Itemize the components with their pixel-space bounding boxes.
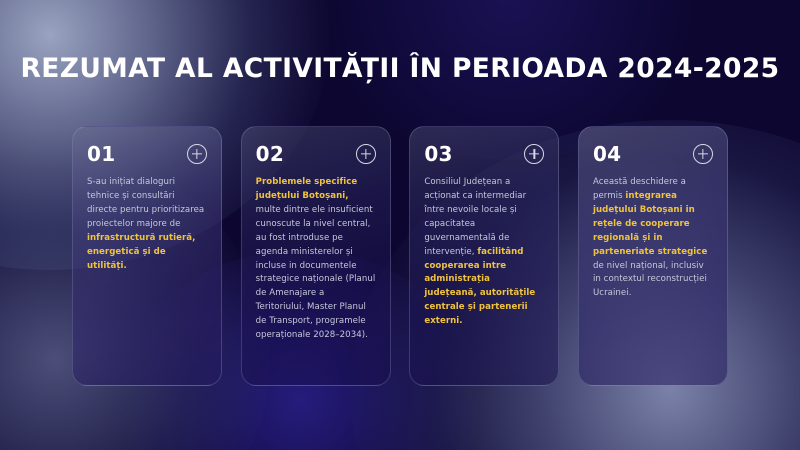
- plus-circle-icon[interactable]: [187, 144, 207, 164]
- card-04[interactable]: 04 Această deschidere a permis integrare…: [578, 126, 728, 386]
- card-01[interactable]: 01 S-au inițiat dialoguri tehnice și con…: [72, 126, 222, 386]
- card-header: 03: [424, 141, 544, 167]
- cards-row: 01 S-au inițiat dialoguri tehnice și con…: [72, 126, 728, 386]
- card-number: 03: [424, 144, 452, 164]
- card-body-text: Problemele specifice județului Botoșani,…: [256, 176, 376, 343]
- page-title: REZUMAT AL ACTIVITĂȚII ÎN PERIOADA 2024-…: [0, 54, 800, 83]
- slide-root: REZUMAT AL ACTIVITĂȚII ÎN PERIOADA 2024-…: [0, 0, 800, 450]
- card-header: 02: [256, 141, 376, 167]
- card-body-text: Această deschidere a permis integrarea j…: [593, 176, 713, 301]
- card-02[interactable]: 02 Problemele specifice județului Botoșa…: [241, 126, 391, 386]
- card-03[interactable]: 03 Consiliul Județean a acționat ca inte…: [409, 126, 559, 386]
- card-header: 04: [593, 141, 713, 167]
- card-body-text: S-au inițiat dialoguri tehnice și consul…: [87, 176, 207, 273]
- card-body-text: Consiliul Județean a acționat ca interme…: [424, 176, 544, 329]
- card-header: 01: [87, 141, 207, 167]
- card-number: 04: [593, 144, 621, 164]
- card-number: 01: [87, 144, 115, 164]
- card-number: 02: [256, 144, 284, 164]
- plus-circle-icon[interactable]: [356, 144, 376, 164]
- plus-circle-icon[interactable]: [693, 144, 713, 164]
- plus-circle-icon[interactable]: [524, 144, 544, 164]
